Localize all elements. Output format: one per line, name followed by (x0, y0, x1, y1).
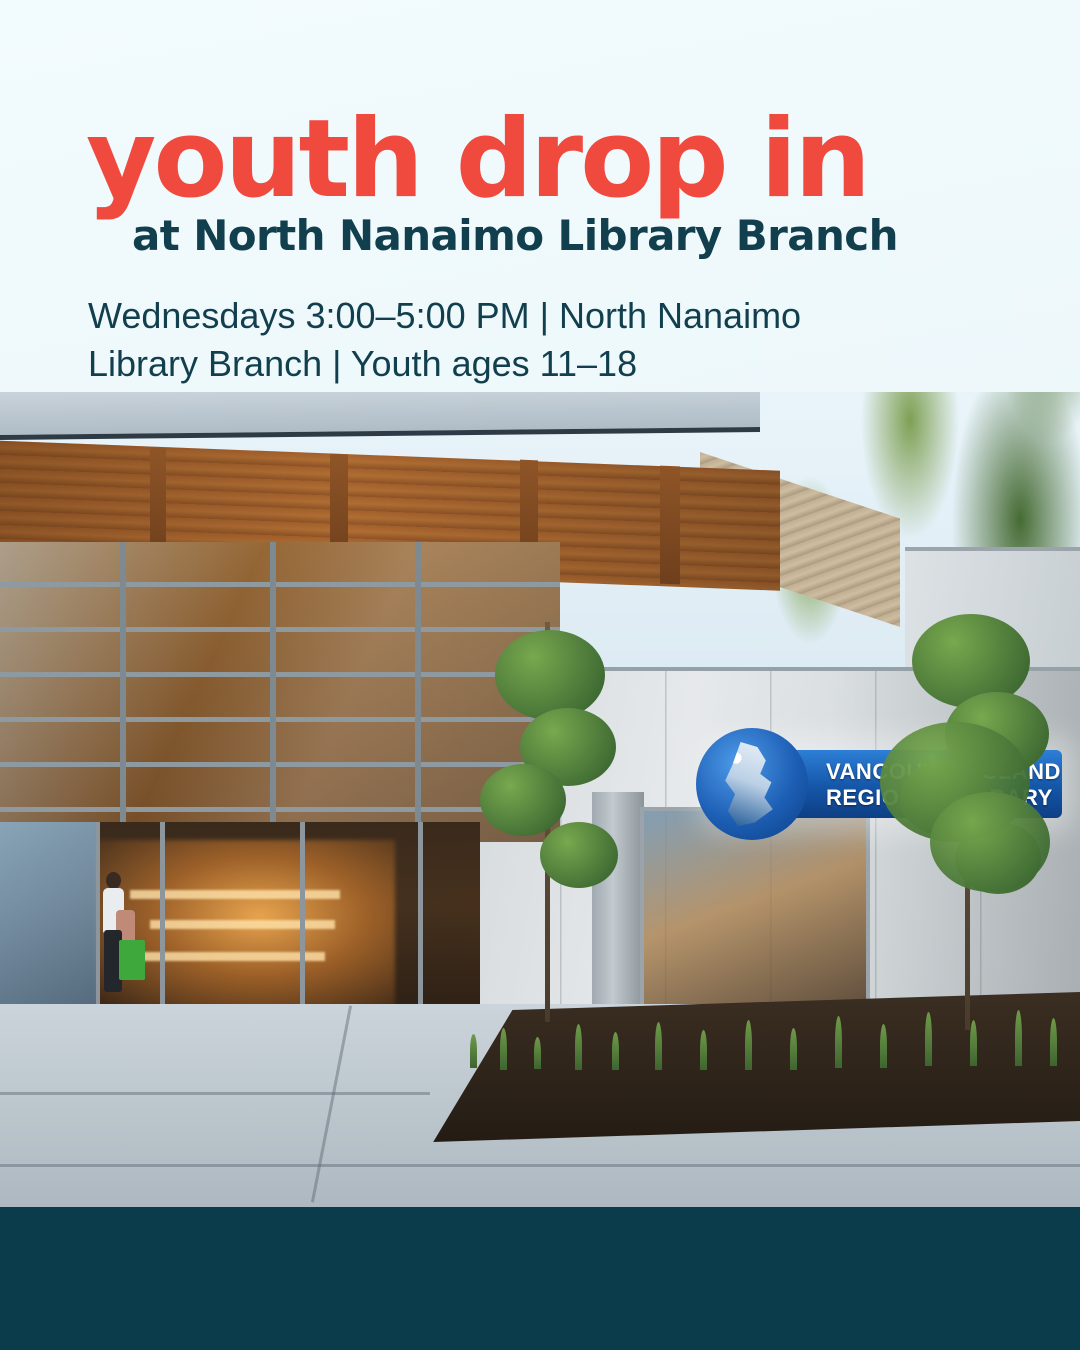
window-mullion (0, 762, 560, 767)
window-mullion (120, 542, 126, 842)
door-frame (300, 822, 305, 1027)
plant-tuft (745, 1020, 752, 1070)
poster-headline: youth drop in (86, 106, 868, 214)
plant-tuft (790, 1028, 797, 1070)
interior-shelf (150, 920, 335, 929)
plant-tuft (1050, 1018, 1057, 1066)
plant-tuft (612, 1032, 619, 1070)
orca-logo-icon (714, 742, 784, 826)
footer-bar: bgc Central Vancouver Island opportunity… (0, 1207, 1080, 1350)
window-mullion (0, 807, 560, 812)
plant-tuft (655, 1022, 662, 1070)
plant-tuft (500, 1028, 507, 1070)
sapling-foliage (540, 822, 618, 888)
window-mullion (0, 582, 560, 587)
window-mullion (415, 542, 421, 842)
plant-tuft (880, 1024, 887, 1068)
library-photo: VANCOUVER ISLAND REGIONAL LIBRARY (0, 392, 1080, 1207)
tree-over-sign (930, 792, 1050, 892)
plant-tuft (700, 1030, 707, 1070)
poster-details: Wednesdays 3:00–5:00 PM | North Nanaimo … (88, 292, 878, 387)
person-entering-library (100, 872, 126, 997)
window-mullion (270, 542, 276, 842)
plaza-seam (0, 1164, 1080, 1167)
plaza-seam (0, 1092, 430, 1095)
poster-subheadline: at North Nanaimo Library Branch (132, 215, 898, 257)
roof-fascia (0, 392, 760, 440)
sign-badge-circle (696, 728, 808, 840)
plant-tuft (835, 1016, 842, 1068)
window-mullion (0, 672, 560, 677)
plant-tuft (1015, 1010, 1022, 1066)
interior-shelf (125, 952, 325, 961)
sapling-foliage (480, 764, 566, 836)
plant-tuft (470, 1034, 477, 1068)
door-frame (160, 822, 165, 1027)
window-mullion (0, 717, 560, 722)
door-frame (418, 822, 423, 1027)
green-shopping-bag (119, 940, 145, 980)
sapling-foliage (495, 630, 605, 720)
entrance-glass-door (0, 822, 100, 1027)
plant-tuft (970, 1020, 977, 1066)
person-head (106, 872, 121, 889)
plant-tuft (925, 1012, 932, 1066)
poster-root: VANCOUVER ISLAND REGIONAL LIBRARY (0, 0, 1080, 1350)
plant-tuft (534, 1037, 541, 1069)
roof-beam (660, 466, 680, 585)
window-mullion (0, 627, 560, 632)
plant-tuft (575, 1024, 582, 1070)
glass-reflection (0, 542, 560, 842)
